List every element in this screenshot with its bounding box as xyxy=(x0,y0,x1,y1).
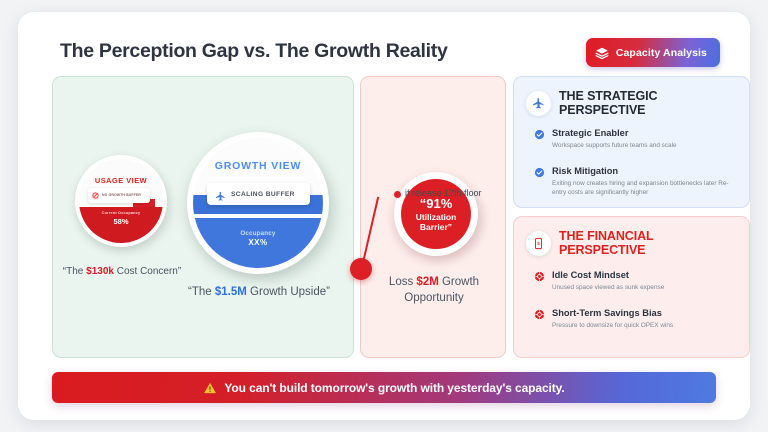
growth-caption-money: $1.5M xyxy=(215,286,247,298)
growth-circle: GROWTH VIEW Occupancy XX% S xyxy=(187,132,329,274)
strategic-item-1-title: Risk Mitigation xyxy=(552,166,618,176)
usage-occupancy-fill: Current Occupancy 58% xyxy=(79,207,163,243)
layers-icon xyxy=(595,46,609,60)
perception-panel: USAGE VIEW NO GROWTH BUFFER xyxy=(52,76,354,358)
scaling-buffer-chip: SCALING BUFFER xyxy=(207,183,310,205)
capacity-analysis-badge[interactable]: Capacity Analysis xyxy=(586,38,720,67)
warning-icon xyxy=(203,381,217,395)
slide-header: The Perception Gap vs. The Growth Realit… xyxy=(44,32,728,76)
growth-occupancy-value: XX% xyxy=(193,238,323,247)
loss-caption-prefix: Loss xyxy=(389,276,417,288)
loss-caption: Loss $2M Growth Opportunity xyxy=(367,275,501,306)
usage-caption-money: $130k xyxy=(86,266,114,277)
strategic-perspective-card: THE STRATEGIC PERSPECTIVE Strategic Enab… xyxy=(513,76,750,208)
strategic-card-header: THE STRATEGIC PERSPECTIVE xyxy=(526,90,741,116)
growth-inner: GROWTH VIEW Occupancy XX% S xyxy=(193,138,323,268)
loss-caption-money: $2M xyxy=(416,276,438,288)
growth-caption: “The $1.5M Growth Upside” xyxy=(171,285,347,301)
growth-occupancy-label: Occupancy xyxy=(193,230,323,237)
page-title: The Perception Gap vs. The Growth Realit… xyxy=(60,40,448,63)
strategic-item-1-head: Risk Mitigation xyxy=(534,165,739,176)
financial-card-header: $ THE FINANCIAL PERSPECTIVE xyxy=(526,230,741,256)
perspectives-column: THE STRATEGIC PERSPECTIVE Strategic Enab… xyxy=(513,76,750,358)
strategic-card-title: THE STRATEGIC PERSPECTIVE xyxy=(559,89,741,117)
list-item: Short-Term Savings Bias Pressure to down… xyxy=(534,307,739,330)
financial-item-0-head: Idle Cost Mindset xyxy=(534,269,739,280)
scaling-buffer-label: SCALING BUFFER xyxy=(231,191,295,198)
gear-circle-icon xyxy=(534,307,545,318)
usage-view-title: USAGE VIEW xyxy=(79,176,163,185)
strategic-item-0-desc: Workspace supports future teams and scal… xyxy=(552,141,739,150)
strategic-item-1-desc: Exiting now creates hiring and expansion… xyxy=(552,179,739,198)
check-circle-icon xyxy=(534,165,545,176)
list-item: Idle Cost Mindset Unused space viewed as… xyxy=(534,269,739,292)
growth-view-title: GROWTH VIEW xyxy=(193,160,323,172)
usage-inner: USAGE VIEW NO GROWTH BUFFER xyxy=(79,159,163,243)
barrier-sublabel: Utilization Barrier” xyxy=(401,212,471,232)
no-entry-icon xyxy=(91,192,99,200)
no-growth-buffer-chip: NO GROWTH BUFFER xyxy=(88,188,150,203)
usage-circle: USAGE VIEW NO GROWTH BUFFER xyxy=(75,155,167,247)
growth-caption-prefix: “The xyxy=(188,286,215,298)
gear-circle-icon xyxy=(534,269,545,280)
strategic-item-0-title: Strategic Enabler xyxy=(552,128,628,138)
strategic-item-0-head: Strategic Enabler xyxy=(534,127,739,138)
connector-node xyxy=(350,258,372,280)
slide-canvas: The Perception Gap vs. The Growth Realit… xyxy=(18,12,750,420)
banner-text: You can't build tomorrow's growth with y… xyxy=(224,381,564,395)
usage-caption: “The $130k Cost Concern” xyxy=(61,265,183,279)
financial-item-1-head: Short-Term Savings Bias xyxy=(534,307,739,318)
growth-view-chart: GROWTH VIEW Occupancy XX% S xyxy=(187,132,329,274)
usage-occupancy-value: 58% xyxy=(79,217,163,226)
plane-icon xyxy=(215,189,226,200)
reality-panel: “91% Utilization Barrier” Loss $2M Growt… xyxy=(360,76,506,358)
usage-occupancy-label: Current Occupancy xyxy=(79,211,163,215)
bottom-banner: You can't build tomorrow's growth with y… xyxy=(52,372,716,403)
pointer-dot xyxy=(394,191,401,198)
barrier-percentage: “91% xyxy=(420,196,453,211)
financial-perspective-card: $ THE FINANCIAL PERSPECTIVE xyxy=(513,216,750,358)
usage-caption-prefix: “The xyxy=(63,266,86,277)
growth-caption-suffix: Growth Upside” xyxy=(247,286,330,298)
financial-item-0-title: Idle Cost Mindset xyxy=(552,270,629,280)
panels-row: USAGE VIEW NO GROWTH BUFFER xyxy=(52,76,720,358)
no-growth-buffer-label: NO GROWTH BUFFER xyxy=(102,193,141,197)
badge-label: Capacity Analysis xyxy=(616,47,707,59)
mobile-money-icon: $ xyxy=(526,231,551,256)
check-circle-icon xyxy=(534,127,545,138)
list-item: Risk Mitigation Exiting now creates hiri… xyxy=(534,165,739,198)
plane-icon xyxy=(526,91,551,116)
financial-item-1-title: Short-Term Savings Bias xyxy=(552,308,662,318)
utilization-barrier-chart: “91% Utilization Barrier” xyxy=(394,172,478,256)
pointer-label: if release 17th floor xyxy=(405,188,482,198)
financial-item-0-desc: Unused space viewed as sunk expense xyxy=(552,283,739,292)
financial-card-title: THE FINANCIAL PERSPECTIVE xyxy=(559,229,741,257)
usage-view-chart: USAGE VIEW NO GROWTH BUFFER xyxy=(75,155,167,247)
svg-text:$: $ xyxy=(537,241,540,247)
usage-caption-suffix: Cost Concern” xyxy=(114,266,181,277)
list-item: Strategic Enabler Workspace supports fut… xyxy=(534,127,739,150)
financial-item-1-desc: Pressure to downsize for quick OPEX wins xyxy=(552,321,739,330)
